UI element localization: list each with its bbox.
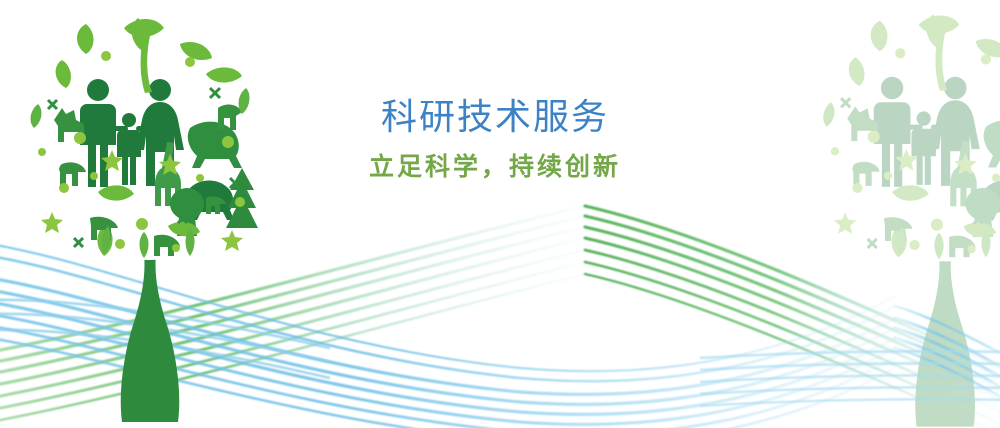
page-title: 科研技术服务 (330, 96, 660, 140)
headline-block: 科研技术服务 立足科学，持续创新 (330, 96, 660, 184)
page-subtitle: 立足科学，持续创新 (330, 150, 660, 184)
hero-banner: 科研技术服务 立足科学，持续创新 (0, 0, 1000, 428)
tree-left-graphic (0, 0, 1000, 428)
